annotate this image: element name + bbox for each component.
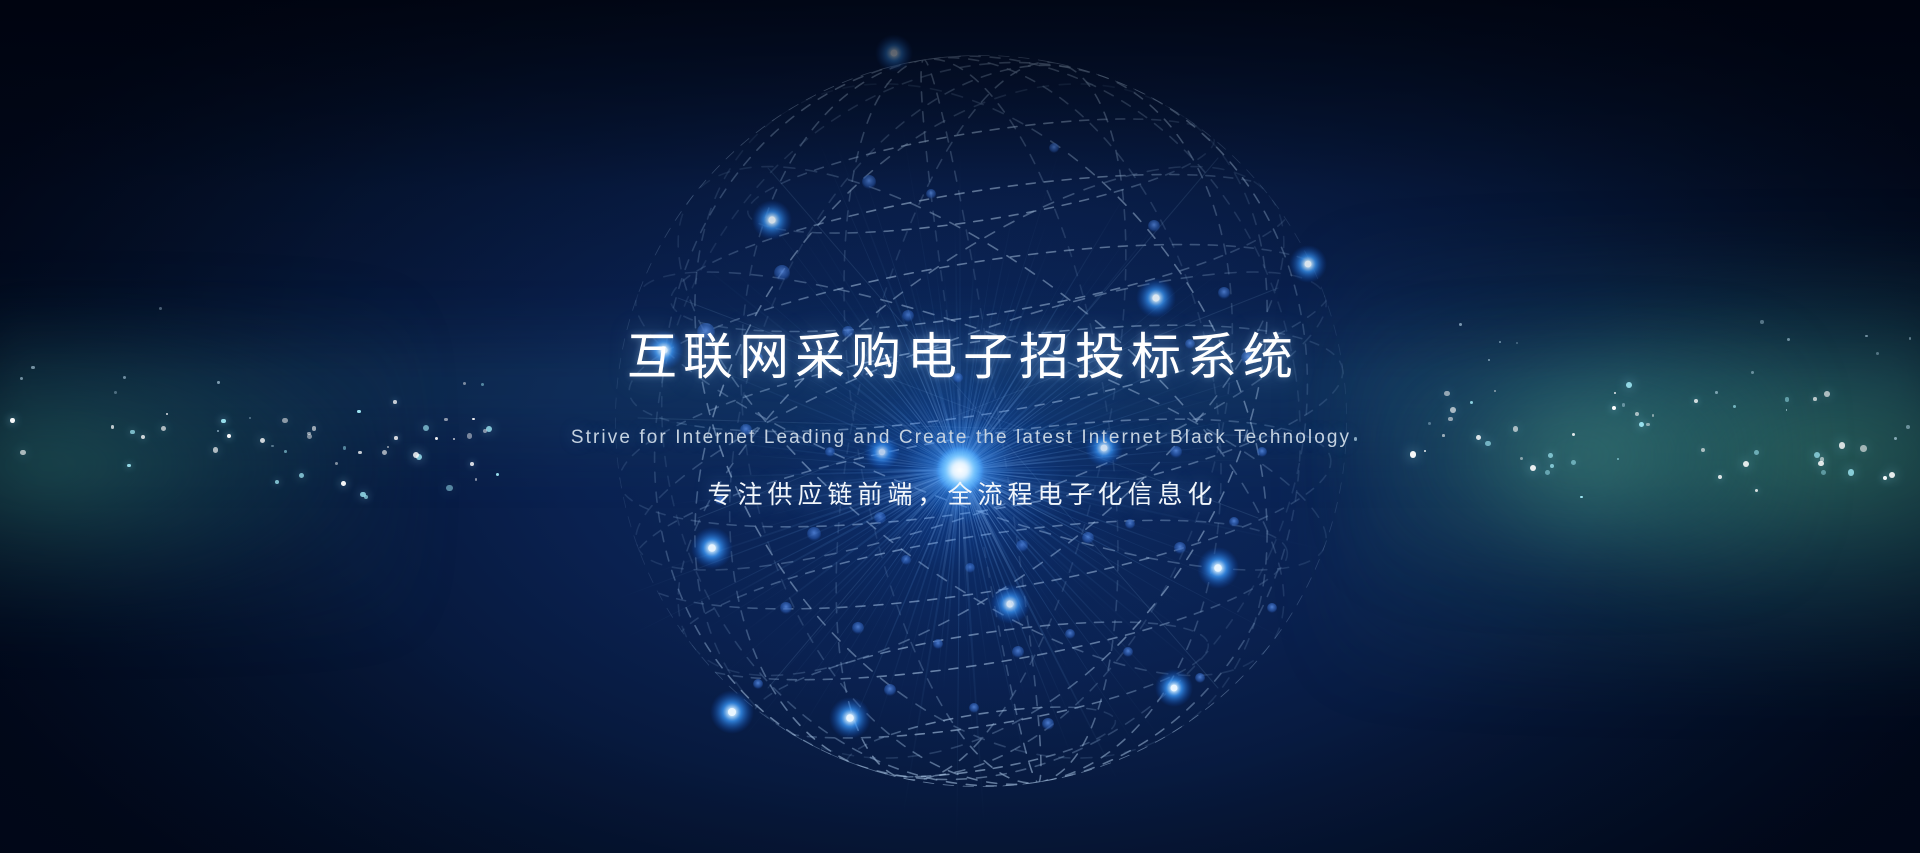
- hero-banner: 互联网采购电子招投标系统 Strive for Internet Leading…: [0, 0, 1920, 853]
- vignette-overlay: [0, 0, 1920, 853]
